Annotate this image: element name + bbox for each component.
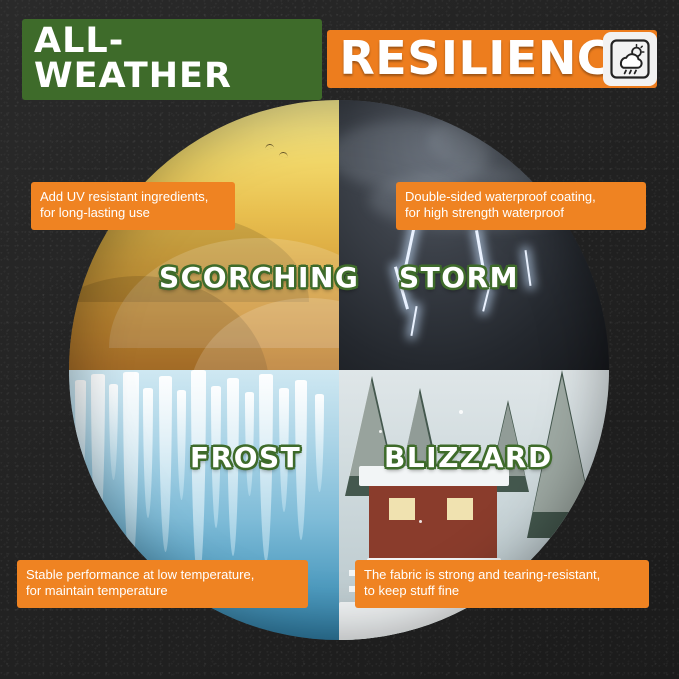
caption-storm: Double-sided waterproof coating, for hig… xyxy=(396,182,646,230)
weather-badge xyxy=(603,32,657,86)
desert-scene xyxy=(69,100,339,370)
label-scorching: SCORCHING xyxy=(159,261,359,294)
header: ALL-WEATHER RESILIENCE xyxy=(22,28,657,90)
caption-storm-line1: Double-sided waterproof coating, xyxy=(405,189,637,205)
title-block: ALL-WEATHER RESILIENCE xyxy=(22,30,657,88)
caption-scorching-line2: for long-lasting use xyxy=(40,205,226,221)
label-storm: STORM xyxy=(399,261,519,294)
poster-root: ALL-WEATHER RESILIENCE xyxy=(0,0,679,679)
quadrant-scorching xyxy=(69,100,339,370)
label-blizzard: BLIZZARD xyxy=(384,441,553,474)
caption-scorching-line1: Add UV resistant ingredients, xyxy=(40,189,226,205)
caption-frost: Stable performance at low temperature, f… xyxy=(17,560,308,608)
quadrant-storm xyxy=(339,100,609,370)
caption-blizzard-line1: The fabric is strong and tearing-resista… xyxy=(364,567,640,583)
caption-frost-line1: Stable performance at low temperature, xyxy=(26,567,299,583)
caption-blizzard: The fabric is strong and tearing-resista… xyxy=(355,560,649,608)
page-title-part1: ALL-WEATHER xyxy=(22,19,322,100)
caption-frost-line2: for maintain temperature xyxy=(26,583,299,599)
caption-blizzard-line2: to keep stuff fine xyxy=(364,583,640,599)
weather-cloud-sun-rain-icon xyxy=(610,39,650,79)
label-frost: FROST xyxy=(190,441,301,474)
storm-scene xyxy=(339,100,609,370)
weather-collage-circle xyxy=(69,100,609,640)
caption-scorching: Add UV resistant ingredients, for long-l… xyxy=(31,182,235,230)
caption-storm-line2: for high strength waterproof xyxy=(405,205,637,221)
